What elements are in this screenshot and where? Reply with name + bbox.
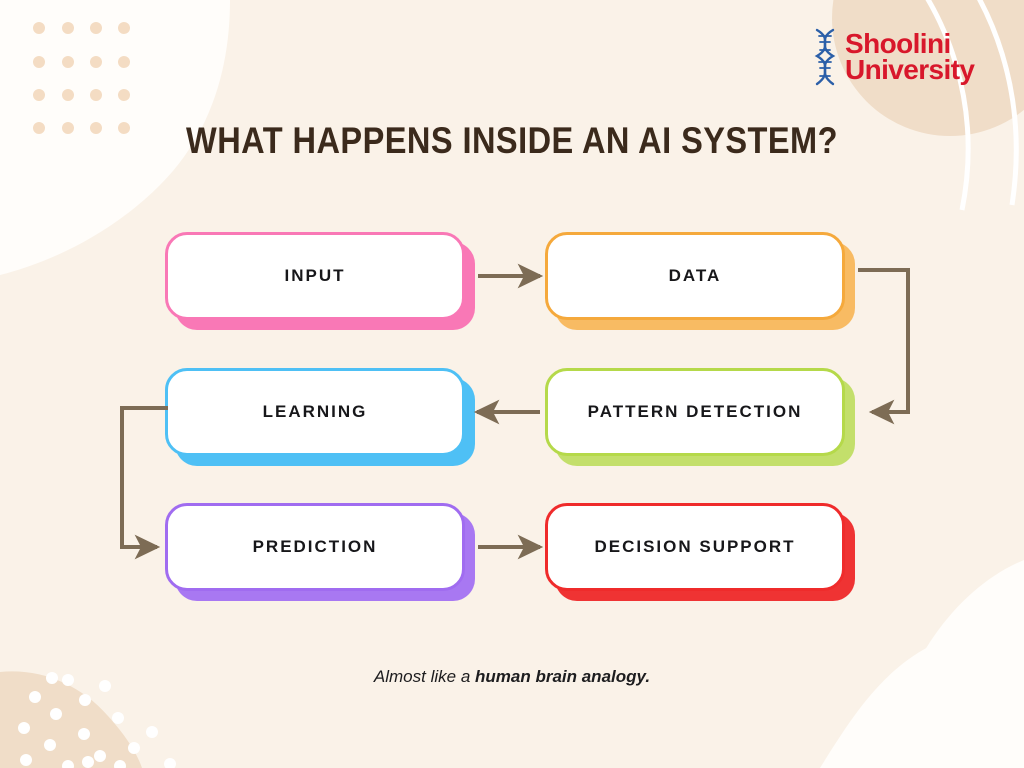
connector-data-to-pattern [858, 270, 908, 412]
flow-connectors [0, 0, 1024, 768]
slide-canvas: Shoolini University WHAT HAPPENS INSIDE … [0, 0, 1024, 768]
connector-learning-to-prediction [122, 408, 168, 547]
